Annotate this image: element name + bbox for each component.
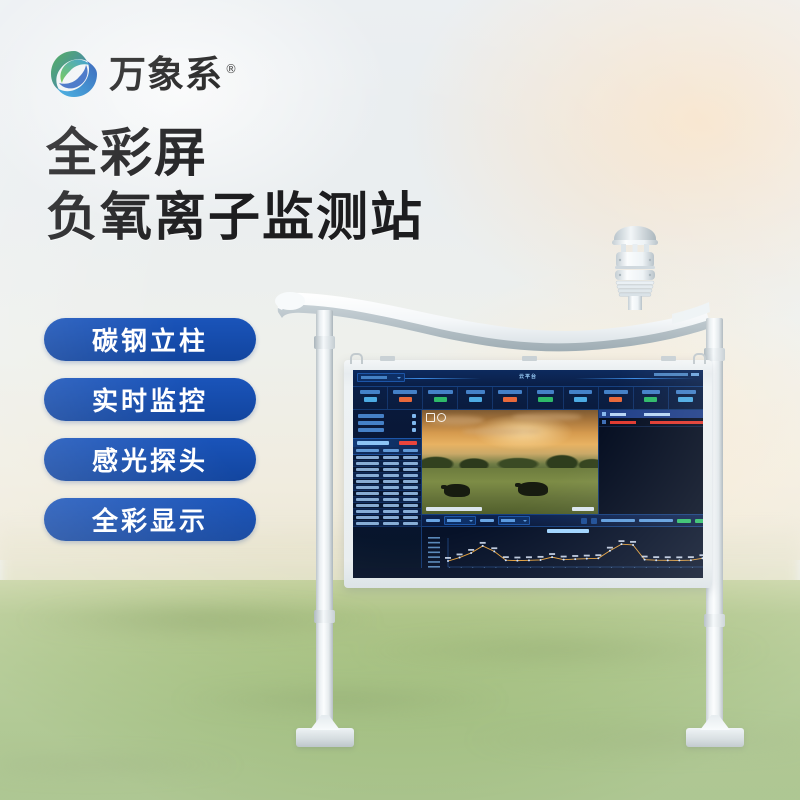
cabinet-mount-tab <box>661 356 676 361</box>
time-range-select[interactable] <box>498 516 530 525</box>
metric-pm10 <box>388 387 423 409</box>
chevron-down-icon <box>523 520 527 522</box>
metric-wind-speed <box>669 387 703 409</box>
cabinet-hanger <box>350 353 363 364</box>
query-button[interactable] <box>677 519 691 523</box>
support-post-left <box>316 310 333 730</box>
alarm-index <box>602 420 606 424</box>
station-selector-dropdown[interactable] <box>357 373 405 382</box>
dashboard-body <box>353 410 703 568</box>
cabinet-mount-tab <box>522 356 537 361</box>
camera-icon[interactable] <box>437 413 446 422</box>
cloud <box>462 428 542 435</box>
post-collar <box>314 610 335 623</box>
alarm-table-header <box>599 410 703 418</box>
panel-title-label <box>357 441 389 445</box>
metric-visibility <box>493 387 528 409</box>
table-row[interactable] <box>353 521 421 527</box>
metric-pressure <box>458 387 493 409</box>
post-collar <box>314 336 335 349</box>
column-alarm-content <box>644 413 670 416</box>
metric-dew-point <box>599 387 634 409</box>
dashboard-screen: 云平台 <box>353 370 703 578</box>
user-greeting <box>654 373 688 376</box>
cow <box>444 484 470 497</box>
calendar-icon[interactable] <box>581 518 587 524</box>
camera-timestamp-overlay <box>426 507 482 511</box>
column-type <box>383 449 398 452</box>
chart-canvas <box>422 534 703 568</box>
column-value <box>403 449 418 452</box>
column-alarm-time <box>610 413 626 416</box>
monitor-factor-select[interactable] <box>444 516 476 525</box>
column-time <box>356 449 379 452</box>
cloud <box>512 413 582 421</box>
anchor-base-plate-left <box>296 728 354 747</box>
dashboard-title: 云平台 <box>353 373 703 380</box>
metric-tsp <box>528 387 563 409</box>
metric-humidity <box>564 387 599 409</box>
device-stats-box <box>353 410 421 438</box>
alarm-content <box>650 421 703 424</box>
monitoring-station: 云平台 <box>0 0 800 800</box>
alarm-time <box>610 421 636 424</box>
records-table-header <box>353 447 421 455</box>
chart-toolbar <box>422 514 703 527</box>
post-collar <box>704 614 725 627</box>
metric-temperature <box>353 387 388 409</box>
camera-feed[interactable] <box>422 410 598 514</box>
metric-noise <box>634 387 669 409</box>
dashboard-main <box>422 410 703 568</box>
stat-row-total-devices <box>358 414 416 418</box>
stat-row-offline-devices <box>358 428 416 432</box>
chevron-down-icon <box>469 520 473 522</box>
refresh-icon[interactable] <box>591 518 597 524</box>
camera-and-alarm-area <box>422 410 703 514</box>
dashboard-header: 云平台 <box>353 370 703 387</box>
ultrasonic-weather-sensor-icon <box>604 224 666 310</box>
alarm-records-link[interactable] <box>399 441 417 445</box>
display-cabinet: 云平台 <box>344 360 712 588</box>
cabinet-mount-tab <box>380 356 395 361</box>
cabinet-hanger <box>693 353 706 364</box>
metric-pm25 <box>423 387 458 409</box>
chevron-down-icon <box>397 377 401 379</box>
trend-chart <box>422 527 703 568</box>
cow <box>518 482 548 496</box>
metrics-strip <box>353 387 703 410</box>
alarm-panel <box>598 410 703 514</box>
logout-button[interactable] <box>691 373 699 376</box>
range-label <box>480 519 494 522</box>
product-marketing-image: 万象系® 全彩屏 负氧离子监测站 碳钢立柱 实时监控 感光探头 全彩显示 <box>0 0 800 800</box>
filter-label <box>426 519 440 522</box>
alarm-row[interactable] <box>599 418 703 427</box>
column-index <box>602 412 606 416</box>
user-area[interactable] <box>654 373 699 376</box>
device-stats-sidebar <box>353 410 422 568</box>
stat-row-online-devices <box>358 421 416 425</box>
export-button[interactable] <box>695 519 703 523</box>
date-start <box>601 519 635 522</box>
records-panel-title <box>353 438 421 447</box>
station-selector-value <box>361 376 387 379</box>
date-end <box>639 519 673 522</box>
camera-location-overlay <box>572 507 594 511</box>
anchor-base-plate-right <box>686 728 744 747</box>
expand-icon[interactable] <box>426 413 435 422</box>
